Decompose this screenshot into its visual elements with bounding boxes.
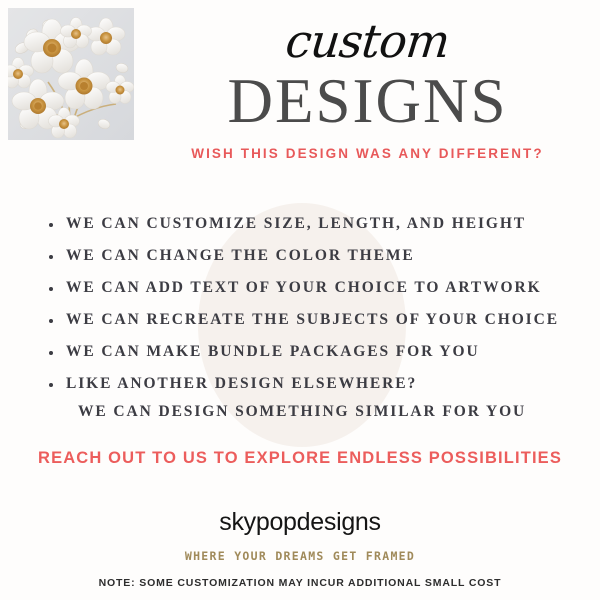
custom-designs-poster: custom DESIGNS WISH THIS DESIGN WAS ANY … (0, 0, 600, 600)
list-item: WE CAN MAKE BUNDLE PACKAGES FOR YOU (44, 343, 574, 361)
list-item: WE CAN ADD TEXT OF YOUR CHOICE TO ARTWOR… (44, 279, 574, 297)
bullet-dot-icon (49, 351, 53, 355)
bullet-dot-icon (49, 287, 53, 291)
list-item-label: WE CAN ADD TEXT OF YOUR CHOICE TO ARTWOR… (66, 279, 542, 296)
bullet-dot-icon (49, 255, 53, 259)
brand-name: skypopdesigns (0, 508, 600, 537)
bullet-dot-icon (49, 223, 53, 227)
list-item-label: WE CAN CHANGE THE COLOR THEME (66, 247, 415, 264)
list-item-label: WE CAN CUSTOMIZE SIZE, LENGTH, AND HEIGH… (66, 215, 526, 232)
list-item: WE CAN CHANGE THE COLOR THEME (44, 247, 574, 265)
floral-artwork-svg (8, 8, 134, 140)
headline-subtitle: WISH THIS DESIGN WAS ANY DIFFERENT? (140, 146, 595, 161)
brand-tagline: WHERE YOUR DREAMS GET FRAMED (0, 549, 600, 563)
feature-list: WE CAN CUSTOMIZE SIZE, LENGTH, AND HEIGH… (44, 215, 574, 435)
headline-block: custom DESIGNS WISH THIS DESIGN WAS ANY … (140, 18, 595, 161)
list-item-label: WE CAN DESIGN SOMETHING SIMILAR FOR YOU (78, 403, 526, 420)
list-item: WE CAN CUSTOMIZE SIZE, LENGTH, AND HEIGH… (44, 215, 574, 233)
list-item-continuation: WE CAN DESIGN SOMETHING SIMILAR FOR YOU (44, 403, 574, 421)
call-to-action-text: REACH OUT TO US TO EXPLORE ENDLESS POSSI… (0, 449, 600, 468)
list-item-label: WE CAN MAKE BUNDLE PACKAGES FOR YOU (66, 343, 480, 360)
page-title-main: DESIGNS (140, 68, 595, 134)
list-item-label: WE CAN RECREATE THE SUBJECTS OF YOUR CHO… (66, 311, 559, 328)
list-item-label: LIKE ANOTHER DESIGN ELSEWHERE? (66, 375, 417, 392)
bullet-dot-icon (49, 383, 53, 387)
bullet-dot-icon (49, 319, 53, 323)
list-item: WE CAN RECREATE THE SUBJECTS OF YOUR CHO… (44, 311, 574, 329)
list-item: LIKE ANOTHER DESIGN ELSEWHERE? (44, 375, 574, 393)
page-title-script: custom (138, 18, 598, 64)
floral-artwork-image (8, 8, 134, 140)
footnote-note: NOTE: SOME CUSTOMIZATION MAY INCUR ADDIT… (0, 577, 600, 589)
